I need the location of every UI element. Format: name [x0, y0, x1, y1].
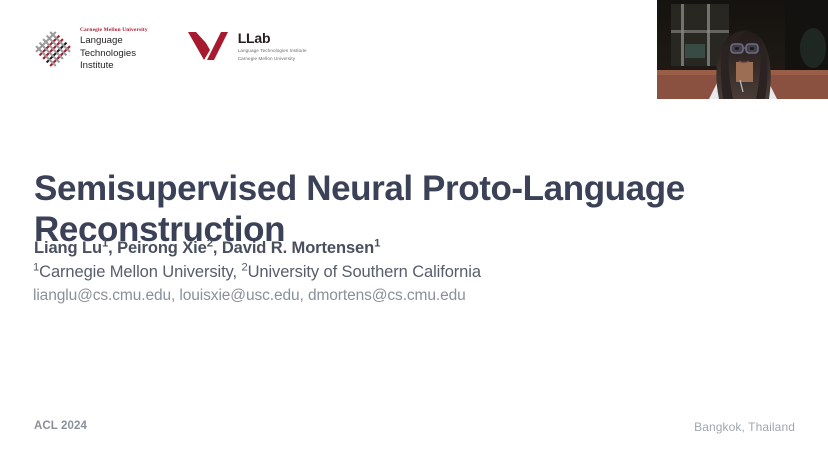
author-3-affiliation-marker: 1	[374, 238, 380, 250]
author-2-name: Peirong Xie	[117, 239, 207, 257]
logo-bar: Carnegie Mellon University Language Tech…	[33, 26, 307, 72]
llab-chevron-icon	[186, 29, 230, 65]
cmu-lti-logo: Carnegie Mellon University Language Tech…	[33, 26, 148, 72]
presenter-webcam-feed[interactable]	[657, 0, 828, 99]
presentation-slide: Carnegie Mellon University Language Tech…	[0, 0, 828, 466]
llab-title: LLab	[238, 31, 307, 46]
affiliation-1-name: Carnegie Mellon University	[39, 263, 232, 281]
author-1-name: Liang Lu	[34, 239, 102, 257]
llab-subtitle-line-2: Carnegie Mellon University	[238, 56, 307, 63]
affiliations-line: 1Carnegie Mellon University, 2University…	[33, 263, 481, 282]
llab-logotype: LLab Language Technologies Institute Car…	[238, 31, 307, 63]
cmu-lti-name-line-2: Technologies	[80, 48, 148, 60]
cmu-lti-name-line-1: Language	[80, 35, 148, 47]
affiliation-2-name: University of Southern California	[248, 263, 481, 281]
authors-line: Liang Lu1, Peirong Xie2, David R. Morten…	[34, 239, 380, 258]
footer-conference-label: ACL 2024	[34, 420, 87, 432]
author-1-affiliation-marker: 1	[102, 238, 108, 250]
cmu-lti-diamond-icon	[33, 29, 73, 69]
author-2-affiliation-marker: 2	[207, 238, 213, 250]
emails-line: lianglu@cs.cmu.edu, louisxie@usc.edu, dm…	[33, 287, 466, 305]
footer-location-label: Bangkok, Thailand	[694, 420, 795, 434]
cmu-lti-university-label: Carnegie Mellon University	[80, 27, 148, 33]
llab-subtitle-line-1: Language Technologies Institute	[238, 48, 307, 55]
cmu-lti-name-line-3: Institute	[80, 60, 148, 72]
cmu-lti-logotype: Carnegie Mellon University Language Tech…	[80, 26, 148, 72]
author-3-name: David R. Mortensen	[222, 239, 374, 257]
llab-logo: LLab Language Technologies Institute Car…	[186, 26, 307, 65]
